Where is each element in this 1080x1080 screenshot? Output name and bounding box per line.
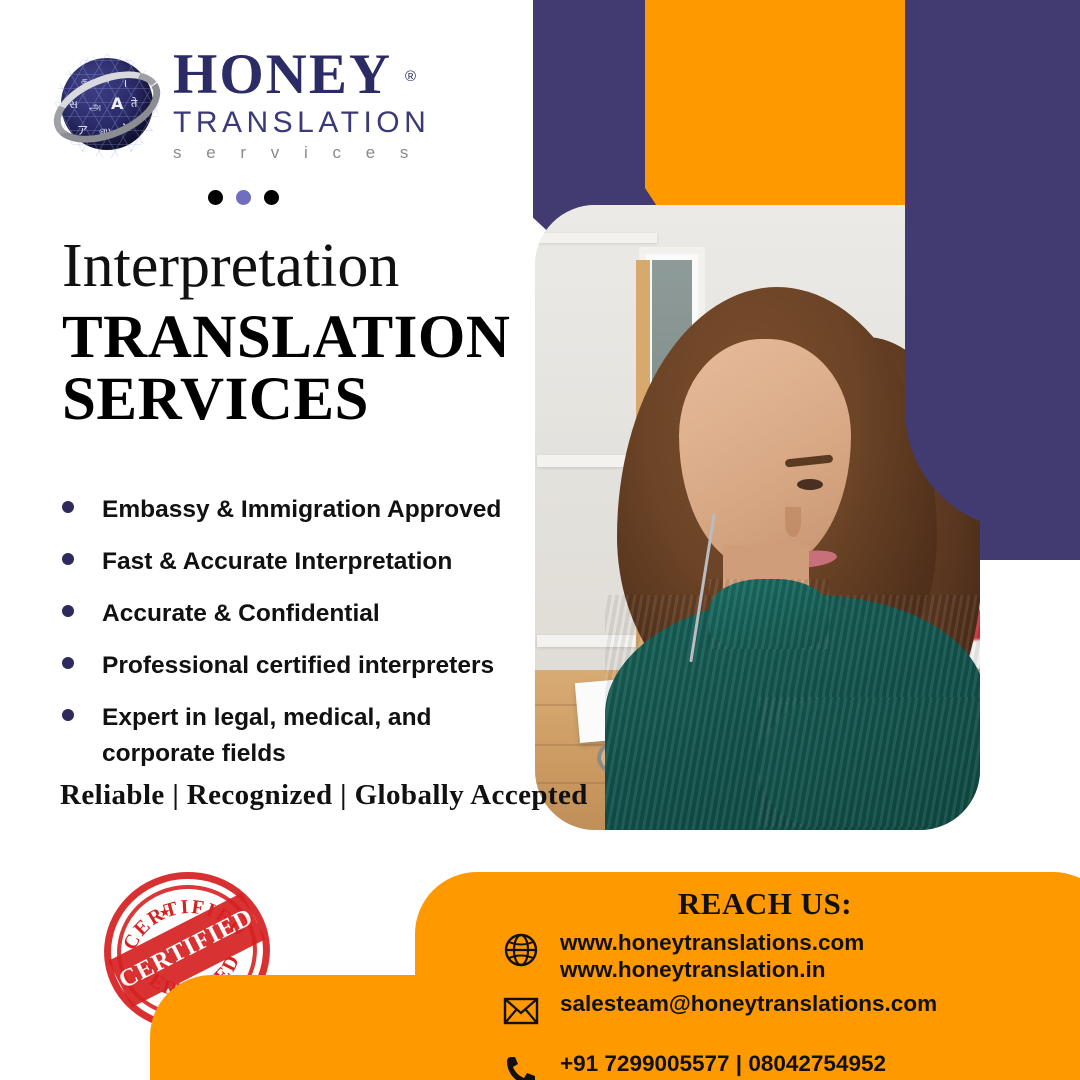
headline-block: Interpretation TRANSLATION SERVICES	[62, 232, 532, 434]
logo-name-tertiary: s e r v i c e s	[173, 142, 463, 164]
list-item: Professional certified interpreters	[56, 648, 556, 684]
list-item-label: Fast & Accurate Interpretation	[102, 544, 452, 580]
list-item: Fast & Accurate Interpretation	[56, 544, 556, 580]
contact-panel-tail	[150, 975, 450, 1080]
list-item: Expert in legal, medical, and corporate …	[56, 700, 456, 772]
contact-phone-text[interactable]: +91 7299005577 | 08042754952	[560, 1050, 886, 1077]
bullet-dot-icon	[62, 553, 74, 565]
list-item-label: Professional certified interpreters	[102, 648, 494, 684]
bullet-dot-icon	[62, 657, 74, 669]
brand-logo: க म । સ அ A ते ア ஸ ਪ HONEY ® TRANSLATION…	[55, 46, 455, 176]
website-1[interactable]: www.honeytranslations.com	[560, 930, 864, 955]
registered-trademark-icon: ®	[405, 48, 418, 106]
dot-black	[208, 190, 223, 205]
logo-name-primary: HONEY ®	[173, 46, 392, 104]
contact-title: REACH US:	[415, 886, 1080, 922]
contact-panel: REACH US: www.honeytranslations.com www.…	[415, 872, 1080, 1080]
list-item-label: Accurate & Confidential	[102, 596, 380, 632]
list-item: Embassy & Immigration Approved	[56, 492, 556, 528]
headline-main-1: TRANSLATION	[62, 304, 532, 372]
contact-row-phone[interactable]: +91 7299005577 | 08042754952	[500, 1050, 886, 1080]
photo-shelf	[537, 233, 657, 243]
poster-canvas: க म । સ அ A ते ア ஸ ਪ HONEY ® TRANSLATION…	[0, 0, 1080, 1080]
globe-languages-icon: க म । સ அ A ते ア ஸ ਪ	[55, 54, 159, 158]
list-item-label: Expert in legal, medical, and corporate …	[102, 700, 456, 772]
logo-dots	[208, 190, 279, 205]
contact-row-email[interactable]: salesteam@honeytranslations.com	[500, 990, 937, 1032]
photo-collar	[709, 579, 829, 649]
globe-icon	[500, 929, 542, 971]
dot-black	[264, 190, 279, 205]
photo-arm	[759, 697, 980, 827]
logo-name-secondary: TRANSLATION	[173, 106, 463, 140]
phone-icon	[500, 1050, 542, 1080]
bullet-dot-icon	[62, 605, 74, 617]
bullet-dot-icon	[62, 501, 74, 513]
purple-overlay-shape	[905, 0, 1080, 530]
bullet-dot-icon	[62, 709, 74, 721]
dot-purple	[236, 190, 251, 205]
list-item-label: Embassy & Immigration Approved	[102, 492, 501, 528]
headline-script: Interpretation	[62, 232, 532, 300]
website-2[interactable]: www.honeytranslation.in	[560, 957, 825, 982]
contact-website-text[interactable]: www.honeytranslations.com www.honeytrans…	[560, 929, 864, 983]
contact-row-website[interactable]: www.honeytranslations.com www.honeytrans…	[500, 929, 864, 983]
envelope-icon	[500, 990, 542, 1032]
tagline: Reliable | Recognized | Globally Accepte…	[60, 779, 588, 812]
headline-main-2: SERVICES	[62, 366, 532, 434]
feature-list: Embassy & Immigration Approved Fast & Ac…	[56, 492, 556, 788]
list-item: Accurate & Confidential	[56, 596, 556, 632]
contact-email-text[interactable]: salesteam@honeytranslations.com	[560, 990, 937, 1017]
